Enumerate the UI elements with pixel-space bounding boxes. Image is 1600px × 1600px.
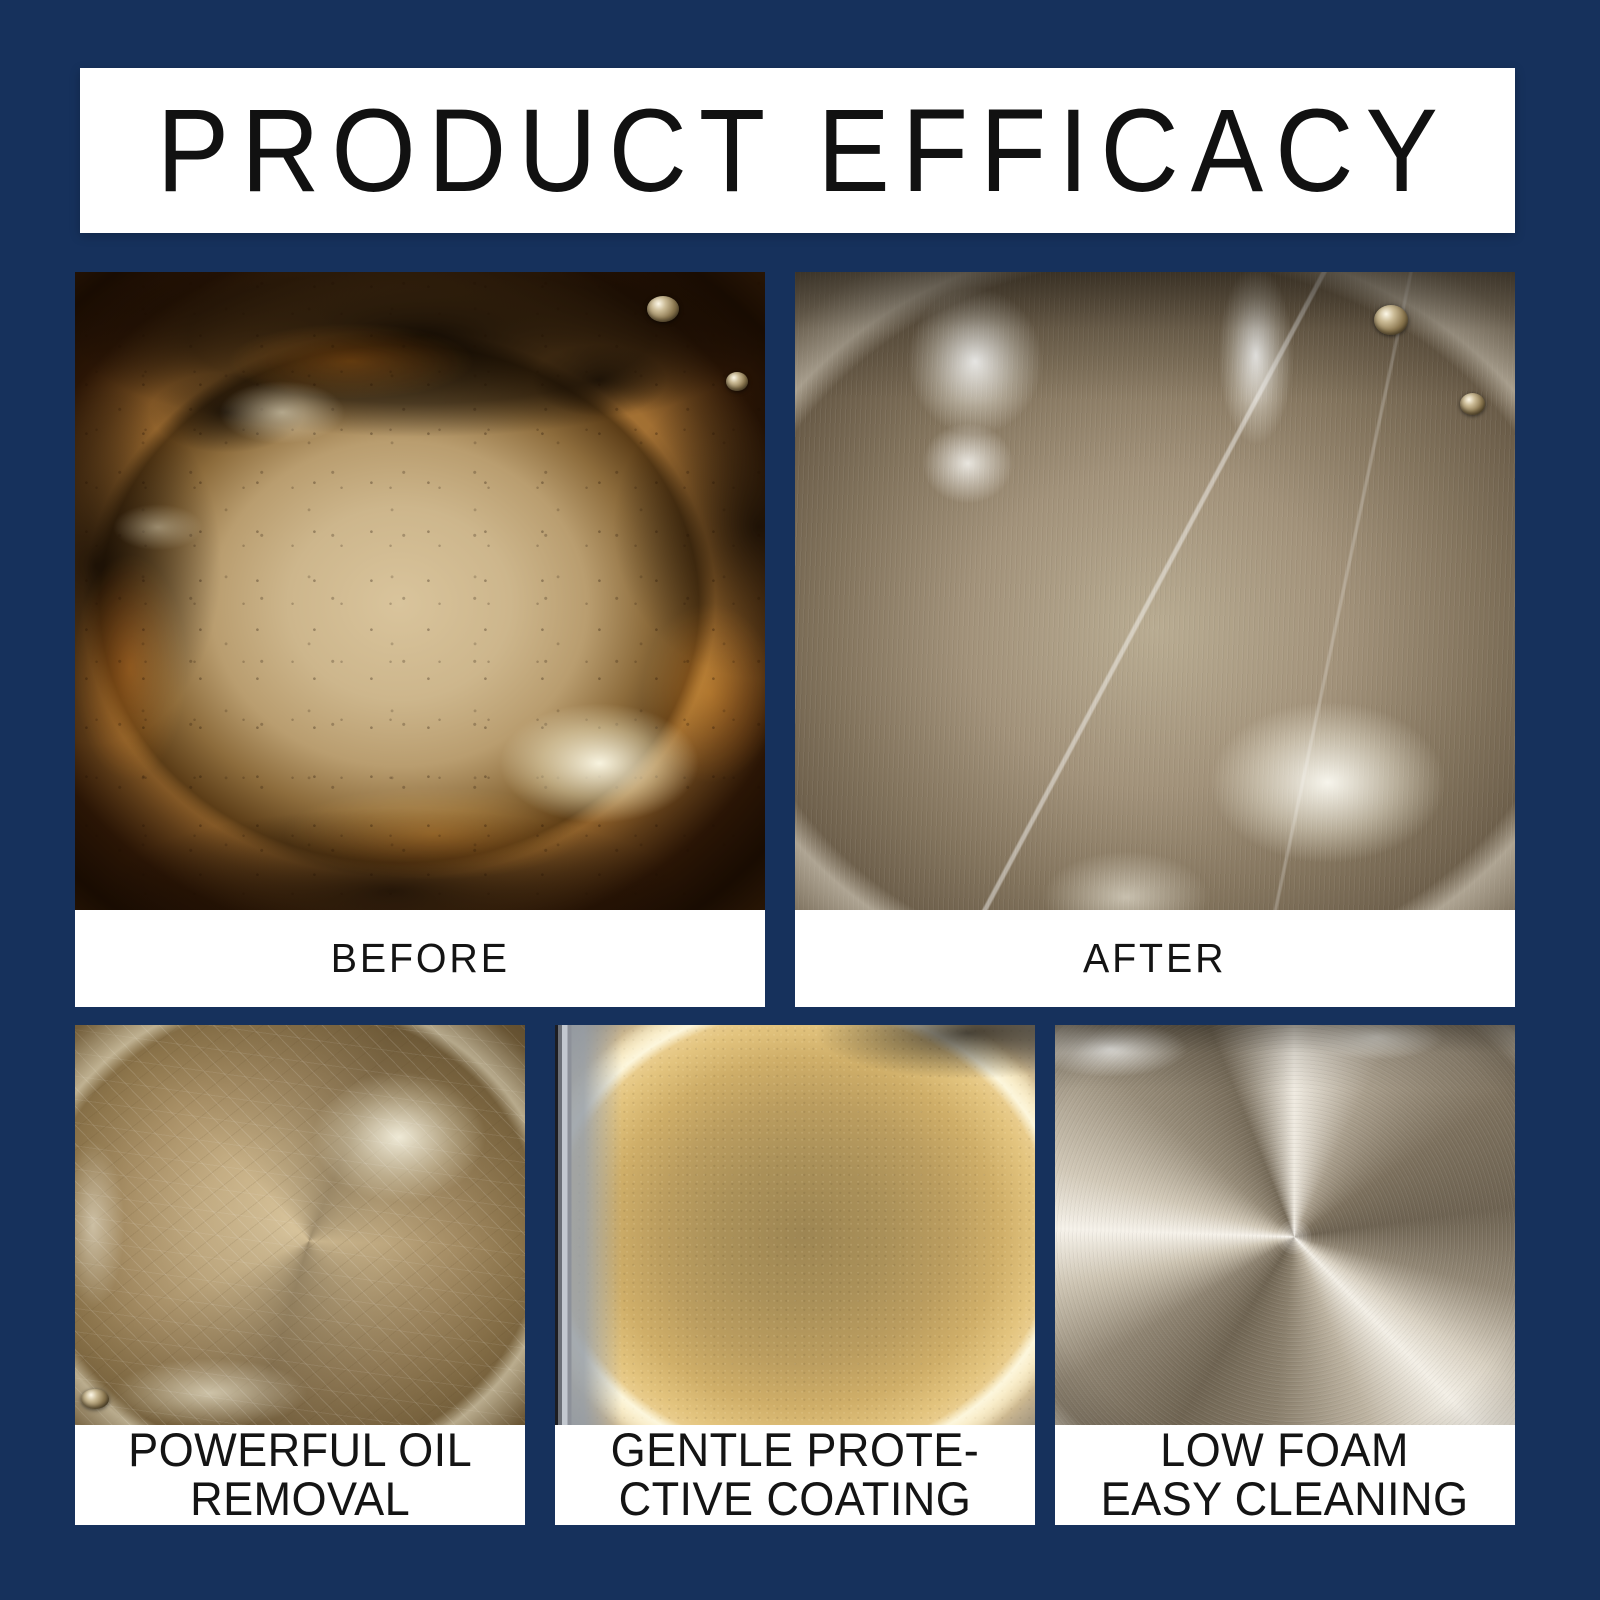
feature-caption-band-low-foam: LOW FOAM EASY CLEANING [1055, 1425, 1515, 1525]
feature-photo-low-foam [1055, 1025, 1515, 1425]
pan-rivet-icon [647, 296, 679, 322]
pan-rivet-icon [726, 372, 748, 391]
after-caption-band: AFTER [795, 910, 1515, 1007]
radial-pan-vignette-layer [1055, 1025, 1515, 1425]
before-caption-band: BEFORE [75, 910, 765, 1007]
after-photo [795, 272, 1515, 910]
pan-rivet-icon [1460, 393, 1485, 415]
feature-photo-protective-coating [555, 1025, 1035, 1425]
gold-pan-highlight-layer [75, 1025, 525, 1425]
after-caption-label: AFTER [1083, 937, 1226, 980]
feature-caption-label-low-foam: LOW FOAM EASY CLEANING [1101, 1426, 1469, 1524]
amber-pan-edge-layer [555, 1025, 1035, 1425]
before-photo [75, 272, 765, 910]
feature-caption-label-protective-coating: GENTLE PROTE- CTIVE COATING [611, 1426, 980, 1524]
feature-caption-band-oil-removal: POWERFUL OIL REMOVAL [75, 1425, 525, 1525]
steel-pan-top-shadow-layer [795, 272, 1515, 910]
feature-caption-band-protective-coating: GENTLE PROTE- CTIVE COATING [555, 1425, 1035, 1525]
header-band: PRODUCT EFFICACY [80, 68, 1515, 233]
feature-photo-oil-removal [75, 1025, 525, 1425]
pan-rivet-icon [81, 1389, 109, 1409]
burnt-pan-highlight-layer [75, 272, 765, 910]
before-caption-label: BEFORE [330, 937, 509, 980]
page-title: PRODUCT EFFICACY [145, 92, 1450, 210]
pan-rivet-icon [1374, 305, 1408, 335]
feature-caption-label-oil-removal: POWERFUL OIL REMOVAL [128, 1426, 472, 1524]
infographic-canvas: PRODUCT EFFICACY BEFORE AFTER POWER [0, 0, 1600, 1600]
